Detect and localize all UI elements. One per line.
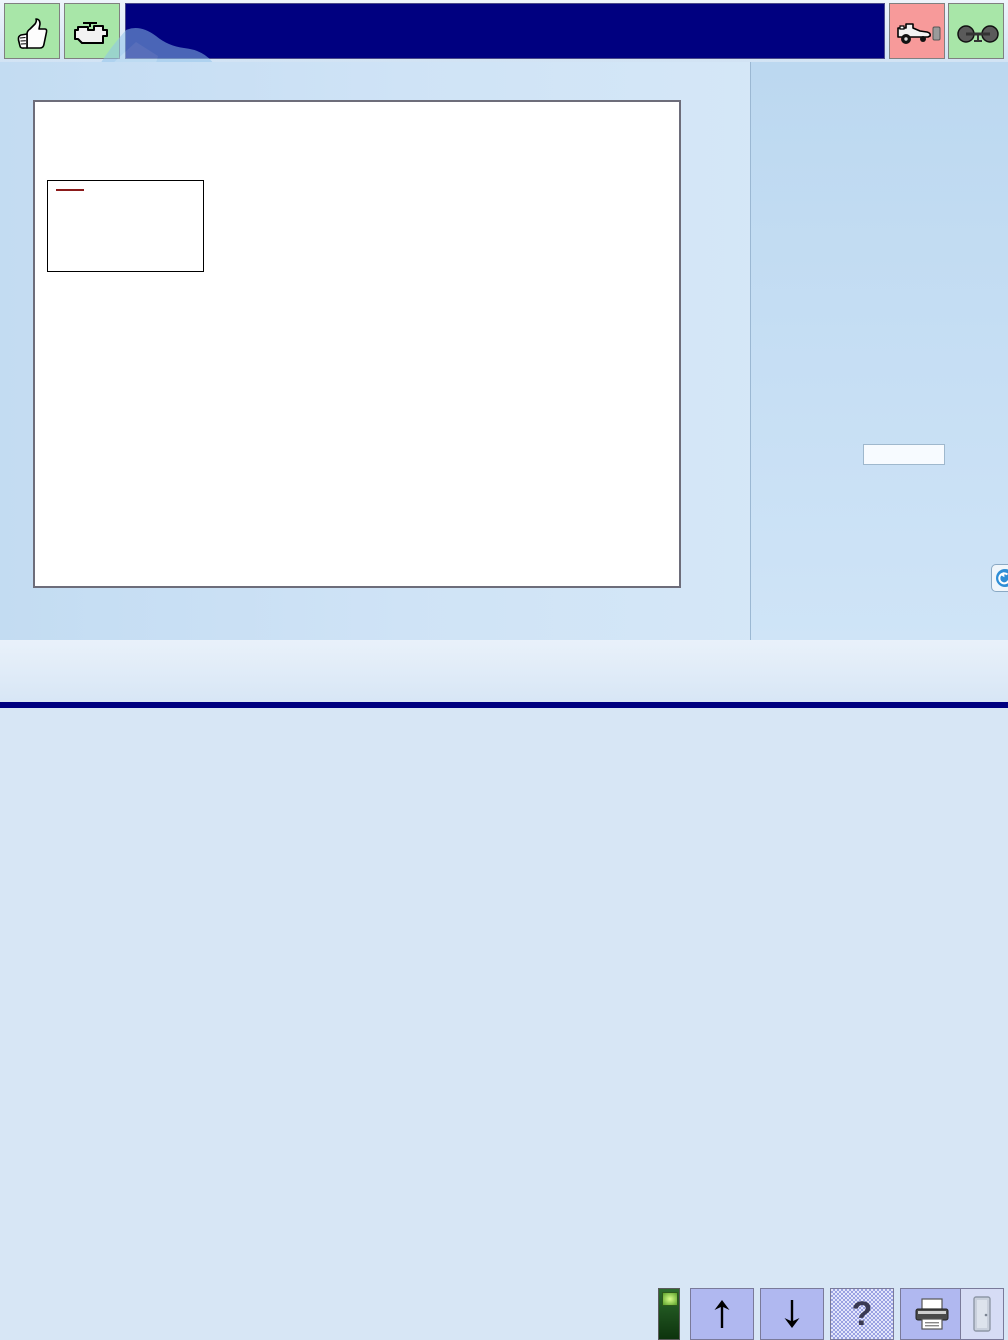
engine-button[interactable] bbox=[64, 3, 120, 59]
door-icon bbox=[970, 1295, 994, 1333]
back-arrow-icon[interactable] bbox=[991, 564, 1008, 592]
arrow-up-button[interactable] bbox=[690, 1288, 754, 1340]
window-title-bar bbox=[125, 3, 885, 59]
power-chart bbox=[0, 62, 750, 640]
legend-line-swatch bbox=[56, 189, 84, 191]
rotating-mass-value bbox=[863, 444, 945, 465]
back-arrow-glyph bbox=[995, 568, 1008, 588]
thumbs-up-button[interactable] bbox=[4, 3, 60, 59]
arrow-down-icon bbox=[778, 1297, 806, 1331]
legend-date-row bbox=[56, 189, 203, 191]
status-lamp-indicator bbox=[662, 1292, 678, 1306]
bottom-toolbar: ? bbox=[0, 640, 1008, 708]
exit-door-button[interactable] bbox=[960, 1288, 1004, 1340]
values-panel bbox=[750, 62, 1008, 640]
rotating-mass-row bbox=[771, 444, 1007, 468]
help-button[interactable]: ? bbox=[830, 1288, 894, 1340]
question-mark-icon: ? bbox=[852, 1297, 873, 1331]
bottom-accent-rule bbox=[0, 702, 1008, 708]
printer-icon bbox=[912, 1297, 952, 1331]
arrow-up-icon bbox=[708, 1297, 736, 1331]
print-button[interactable] bbox=[900, 1288, 964, 1340]
car-dyno-icon bbox=[894, 22, 942, 48]
arrow-down-button[interactable] bbox=[760, 1288, 824, 1340]
status-lamp bbox=[658, 1288, 680, 1340]
roller-axle-button[interactable] bbox=[948, 3, 1004, 59]
thumbs-up-icon bbox=[15, 17, 49, 51]
plot-canvas bbox=[35, 102, 679, 586]
plot-area[interactable] bbox=[33, 100, 681, 588]
rollers-icon bbox=[957, 24, 999, 46]
engine-icon bbox=[72, 19, 112, 49]
main-content bbox=[0, 62, 1008, 640]
top-toolbar bbox=[0, 0, 1008, 62]
vehicle-on-dyno-button[interactable] bbox=[889, 3, 945, 59]
chart-legend bbox=[47, 180, 204, 272]
